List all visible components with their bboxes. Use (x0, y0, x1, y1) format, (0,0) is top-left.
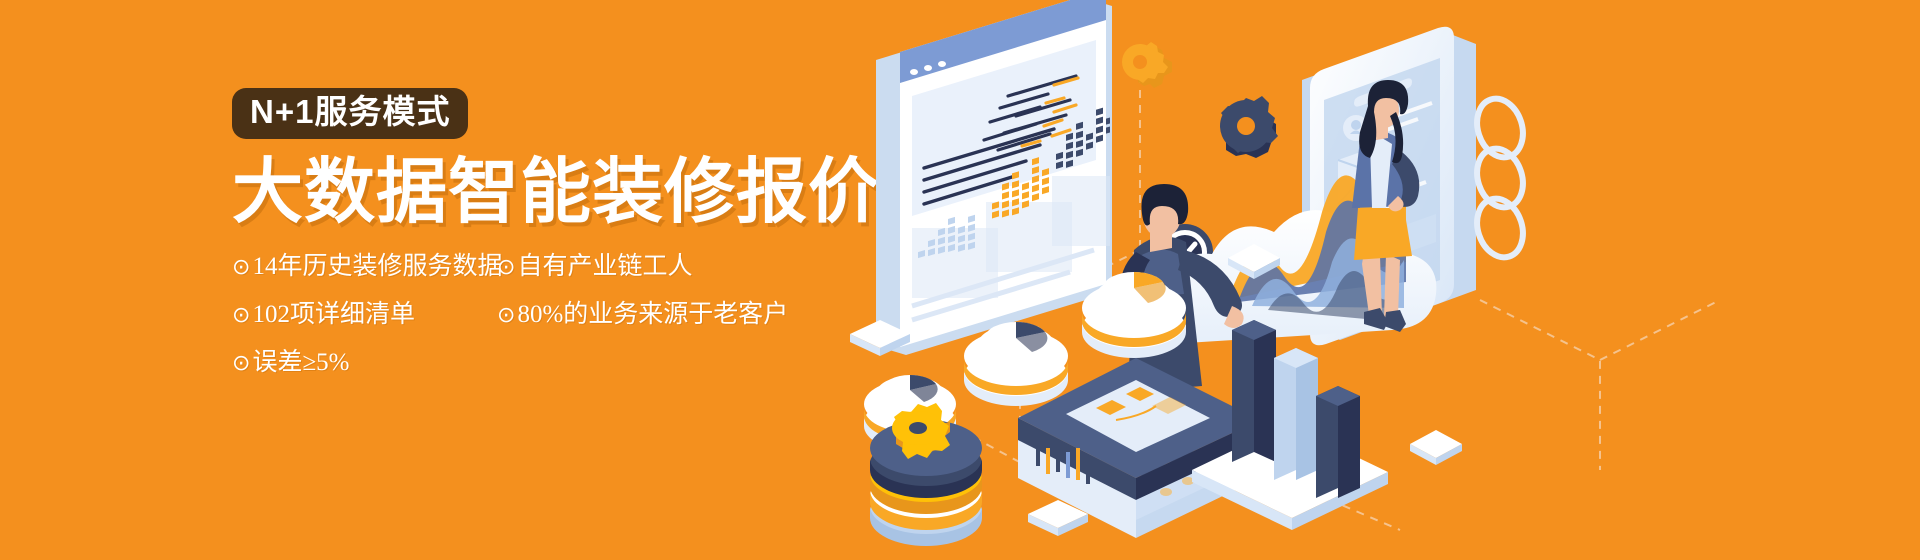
list-item-label: 102项详细清单 (252, 301, 415, 328)
list-item-label: 误差≥5% (252, 349, 349, 376)
bullet-dot-icon: ⊙ (232, 255, 250, 280)
isometric-illustration (840, 0, 1920, 560)
bullet-dot-icon: ⊙ (232, 351, 250, 376)
ring-stack (1470, 93, 1530, 264)
bullet-dot-icon: ⊙ (497, 255, 515, 280)
list-item: ⊙自有产业链工人 (497, 254, 827, 279)
gear-navy-icon (1220, 96, 1278, 158)
list-item-label: 自有产业链工人 (517, 253, 692, 280)
list-item-label: 80%的业务来源于老客户 (517, 301, 788, 328)
list-item: ⊙80%的业务来源于老客户 (497, 302, 827, 327)
bullet-dot-icon: ⊙ (232, 303, 250, 328)
bullet-column-right: ⊙自有产业链工人 ⊙80%的业务来源于老客户 (497, 254, 827, 398)
list-item-label: 14年历史装修服务数据 (252, 253, 502, 280)
gear-orange-icon (1122, 42, 1172, 88)
list-item: ⊙14年历史装修服务数据 (232, 254, 497, 279)
bullet-column-left: ⊙14年历史装修服务数据 ⊙102项详细清单 ⊙误差≥5% (232, 254, 497, 398)
service-model-badge: N+1服务模式 (232, 88, 468, 139)
list-item: ⊙102项详细清单 (232, 302, 497, 327)
promo-banner: N+1服务模式 大数据智能装修报价 ⊙14年历史装修服务数据 ⊙102项详细清单… (0, 0, 1920, 560)
list-item: ⊙误差≥5% (232, 350, 497, 375)
bullet-dot-icon: ⊙ (497, 303, 515, 328)
feature-bullet-list: ⊙14年历史装修服务数据 ⊙102项详细清单 ⊙误差≥5% ⊙自有产业链工人 ⊙… (232, 254, 852, 398)
